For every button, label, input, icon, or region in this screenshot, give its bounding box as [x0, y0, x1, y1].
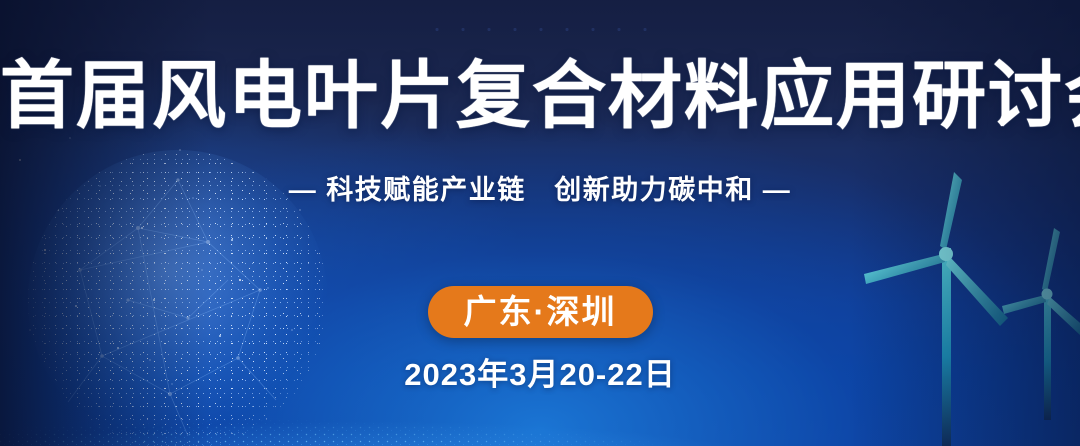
event-date: 2023年3月20-22日	[0, 355, 1080, 395]
location-badge-wrap: 广东·深圳	[0, 286, 1080, 338]
dotted-rule-icon	[424, 25, 656, 34]
conference-banner: 首届风电叶片复合材料应用研讨会 — 科技赋能产业链 创新助力碳中和 — 广东·深…	[0, 0, 1080, 446]
page-title: 首届风电叶片复合材料应用研讨会	[0, 50, 1080, 142]
banner-subtitle: — 科技赋能产业链 创新助力碳中和 —	[0, 172, 1080, 208]
location-badge: 广东·深圳	[428, 286, 653, 338]
